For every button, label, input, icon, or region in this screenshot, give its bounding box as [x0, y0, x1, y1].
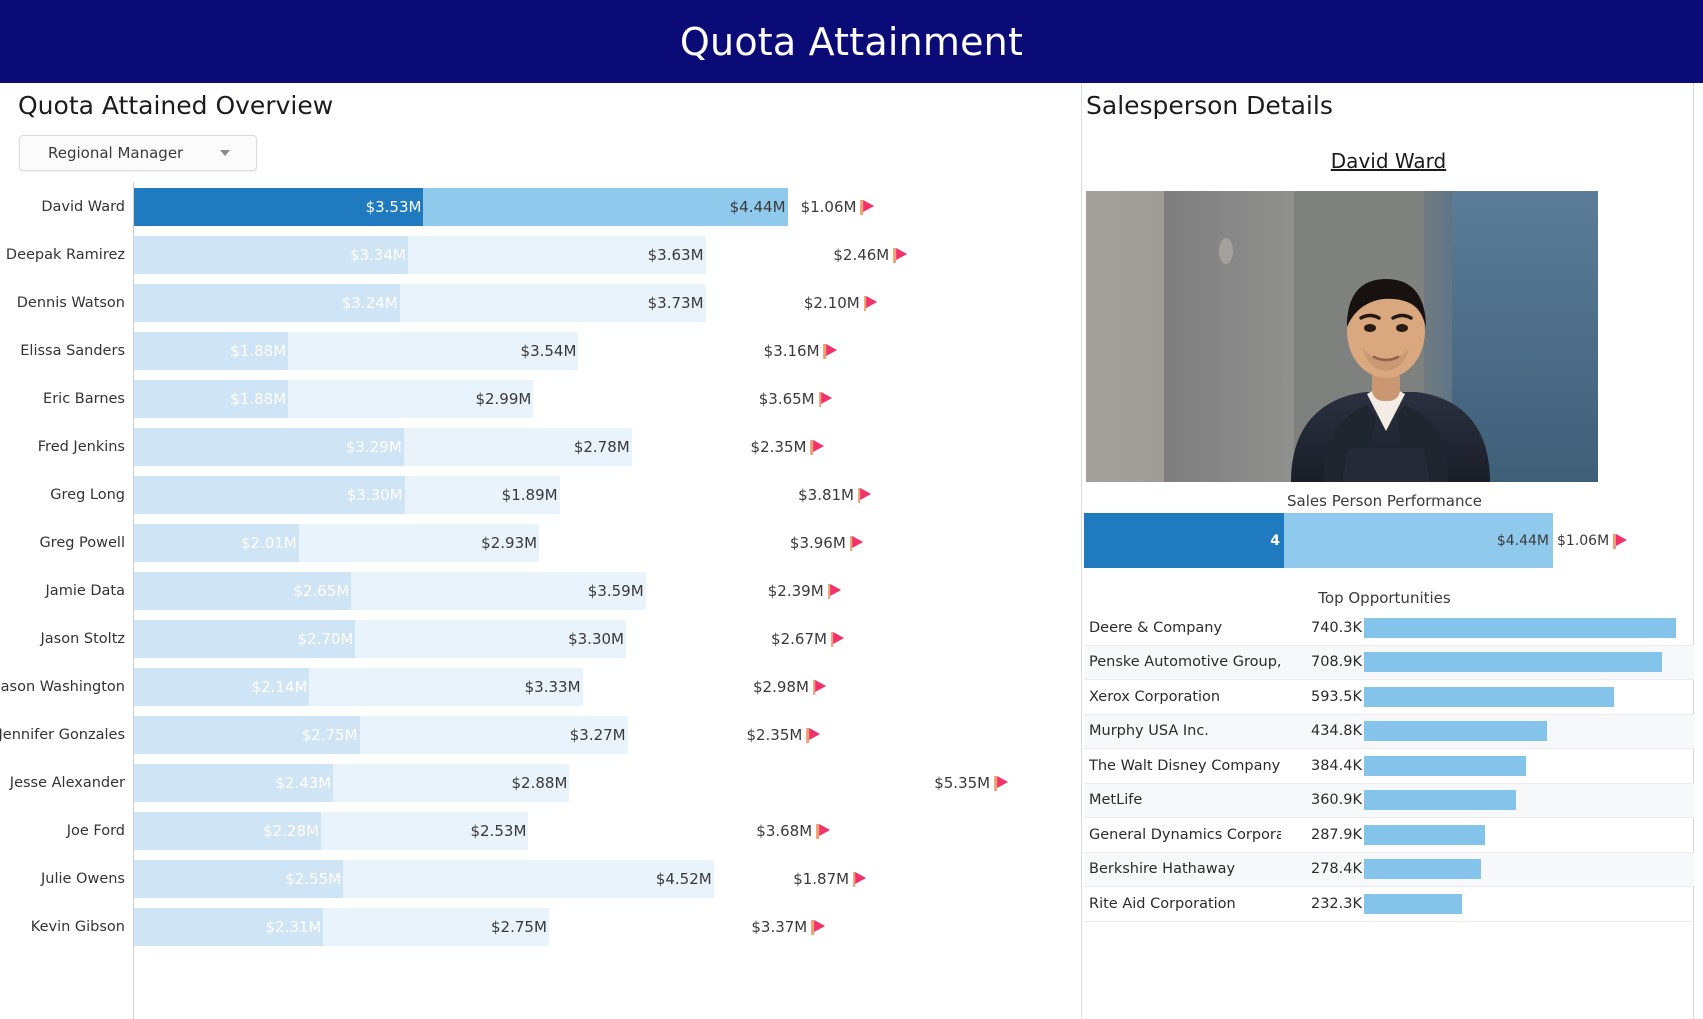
flag-icon	[816, 823, 830, 839]
bar-row[interactable]: Joe Ford$2.28M$2.53M$3.68M	[0, 807, 1080, 855]
bar-segment-attained: $2.65M	[134, 572, 351, 610]
bar-segment-pipeline-label: $3.54M	[521, 342, 579, 360]
bar-segment-attained: $3.30M	[134, 476, 405, 514]
bar-gap-marker: $2.67M	[771, 620, 845, 658]
bar-gap-marker: $2.39M	[768, 572, 842, 610]
bar-row-name: Greg Long	[0, 471, 125, 519]
bar-row-name: Greg Powell	[0, 519, 125, 567]
bar-segment-attained: $3.24M	[134, 284, 400, 322]
opportunity-name: The Walt Disney Company	[1084, 758, 1281, 774]
opportunity-bar-wrap	[1364, 887, 1694, 922]
bar-gap-marker: $1.06M	[801, 188, 875, 226]
opportunity-bar	[1364, 859, 1481, 879]
bar-segment-pipeline-label: $3.59M	[588, 582, 646, 600]
bar-gap-label: $2.39M	[768, 582, 824, 600]
flag-icon	[824, 343, 838, 359]
flag-icon	[994, 775, 1008, 791]
opportunity-value: 384.4K	[1281, 758, 1364, 774]
salesperson-photo	[1086, 191, 1598, 482]
opportunity-bar	[1364, 721, 1547, 741]
flag-icon	[1613, 533, 1627, 549]
opportunity-bar	[1364, 687, 1614, 707]
bar-segment-pipeline-label: $4.44M	[730, 198, 788, 216]
bar-segment-attained: $1.88M	[134, 332, 288, 370]
bar-gap-marker: $2.10M	[804, 284, 878, 322]
bar-row[interactable]: Greg Long$3.30M$1.89M$3.81M	[0, 471, 1080, 519]
bar-segment-attained-label: $2.31M	[266, 918, 324, 936]
opportunity-name: Murphy USA Inc.	[1084, 723, 1281, 739]
flag-icon	[831, 631, 845, 647]
bar-segment-attained: $1.88M	[134, 380, 288, 418]
bar-gap-marker: $2.35M	[751, 428, 825, 466]
opportunity-value: 434.8K	[1281, 723, 1364, 739]
bar-segment-pipeline-label: $3.33M	[525, 678, 583, 696]
bar-gap-marker: $3.81M	[798, 476, 872, 514]
bar-segment-attained-label: $3.29M	[346, 438, 404, 456]
top-opportunities-label: Top Opportunities	[1082, 589, 1687, 607]
opportunity-bar	[1364, 756, 1526, 776]
flag-icon	[828, 583, 842, 599]
flag-icon	[819, 391, 833, 407]
salesperson-details-panel: Salesperson Details David Ward	[1081, 83, 1694, 1019]
bar-segment-pipeline: $2.93M	[299, 524, 539, 562]
bar-row[interactable]: Jesse Alexander$2.43M$2.88M$5.35M	[0, 759, 1080, 807]
performance-chart-label: Sales Person Performance	[1082, 492, 1687, 510]
bar-segment-pipeline: $3.30M	[355, 620, 626, 658]
dashboard-root: Quota Attainment Quota Attained Overview…	[0, 0, 1703, 1019]
bar-row-name: Deepak Ramirez	[0, 231, 125, 279]
bar-gap-label: $3.37M	[751, 918, 807, 936]
performance-total-label: $4.44M	[1497, 533, 1553, 549]
opportunity-row[interactable]: Rite Aid Corporation232.3K	[1084, 887, 1694, 922]
bar-segment-attained-label: $2.14M	[252, 678, 310, 696]
app-title-bar: Quota Attainment	[0, 0, 1703, 83]
bar-gap-label: $1.87M	[793, 870, 849, 888]
bar-segment-pipeline-label: $1.89M	[502, 486, 560, 504]
opportunity-bar	[1364, 825, 1485, 845]
opportunity-name: General Dynamics Corporation	[1084, 827, 1281, 843]
performance-attained-segment: 4	[1084, 513, 1284, 568]
salesperson-details-heading: Salesperson Details	[1086, 91, 1333, 120]
bar-segment-attained-label: $2.70M	[298, 630, 356, 648]
quota-overview-heading: Quota Attained Overview	[18, 91, 333, 120]
bar-segment-pipeline-label: $3.27M	[570, 726, 628, 744]
bar-row-name: Jennifer Gonzales	[0, 711, 125, 759]
bar-segment-attained: $2.70M	[134, 620, 355, 658]
opportunity-bar-wrap	[1364, 818, 1694, 853]
bar-row[interactable]: David Ward$3.53M$4.44M$1.06M	[0, 183, 1080, 231]
bar-segment-attained: $2.01M	[134, 524, 299, 562]
opportunity-name: Deere & Company	[1084, 620, 1281, 636]
bar-segment-pipeline: $3.33M	[309, 668, 582, 706]
bar-row[interactable]: Dennis Watson$3.24M$3.73M$2.10M	[0, 279, 1080, 327]
bar-segment-attained: $2.28M	[134, 812, 321, 850]
performance-gap-label: $1.06M	[1557, 533, 1609, 549]
bar-row[interactable]: Jason Washington$2.14M$3.33M$2.98M	[0, 663, 1080, 711]
performance-bar[interactable]: 4 $4.44M $1.06M	[1084, 513, 1694, 568]
opportunity-value: 708.9K	[1281, 654, 1364, 670]
bar-gap-marker: $3.16M	[764, 332, 838, 370]
bar-segment-attained-label: $3.34M	[350, 246, 408, 264]
flag-icon	[860, 199, 874, 215]
page-title: Quota Attainment	[680, 20, 1023, 64]
opportunity-bar	[1364, 894, 1462, 914]
bar-gap-label: $3.16M	[764, 342, 820, 360]
bar-segment-attained-label: $2.43M	[275, 774, 333, 792]
bar-row[interactable]: Jamie Data$2.65M$3.59M$2.39M	[0, 567, 1080, 615]
opportunity-bar-wrap	[1364, 783, 1694, 818]
bar-row-name: David Ward	[0, 183, 125, 231]
bar-row[interactable]: Eric Barnes$1.88M$2.99M$3.65M	[0, 375, 1080, 423]
bar-row[interactable]: Jason Stoltz$2.70M$3.30M$2.67M	[0, 615, 1080, 663]
bar-segment-pipeline: $2.78M	[404, 428, 632, 466]
bar-row-name: Joe Ford	[0, 807, 125, 855]
bar-segment-pipeline: $1.89M	[405, 476, 560, 514]
opportunity-value: 740.3K	[1281, 620, 1364, 636]
flag-icon	[850, 535, 864, 551]
opportunity-row[interactable]: Deere & Company740.3K	[1084, 611, 1694, 646]
bar-gap-label: $3.96M	[790, 534, 846, 552]
bar-gap-marker: $3.65M	[759, 380, 833, 418]
bar-segment-attained-label: $3.53M	[366, 198, 424, 216]
bar-row-name: Fred Jenkins	[0, 423, 125, 471]
opportunity-bar	[1364, 790, 1516, 810]
bar-segment-attained: $2.14M	[134, 668, 309, 706]
bar-row-name: Eric Barnes	[0, 375, 125, 423]
bar-gap-marker: $3.68M	[756, 812, 830, 850]
opportunity-bar-wrap	[1364, 645, 1694, 680]
bar-gap-marker: $5.35M	[934, 764, 1008, 802]
bar-segment-attained-label: $1.88M	[230, 342, 288, 360]
bar-row-name: Julie Owens	[0, 855, 125, 903]
bar-segment-pipeline: $3.73M	[400, 284, 706, 322]
regional-manager-dropdown-label: Regional Manager	[48, 144, 183, 162]
performance-gap-marker: $1.06M	[1557, 513, 1627, 568]
bar-gap-label: $2.35M	[746, 726, 802, 744]
bar-gap-label: $3.65M	[759, 390, 815, 408]
bar-row[interactable]: Greg Powell$2.01M$2.93M$3.96M	[0, 519, 1080, 567]
opportunity-row[interactable]: Penske Automotive Group, Inc.708.9K	[1084, 646, 1694, 681]
bar-segment-pipeline: $2.99M	[288, 380, 533, 418]
bar-segment-attained-label: $3.24M	[342, 294, 400, 312]
bar-segment-pipeline: $3.59M	[351, 572, 645, 610]
opportunity-bar	[1364, 652, 1662, 672]
quota-overview-panel: Quota Attained Overview Regional Manager…	[0, 83, 1080, 1019]
opportunity-value: 232.3K	[1281, 896, 1364, 912]
opportunity-row[interactable]: General Dynamics Corporation287.9K	[1084, 818, 1694, 853]
bar-gap-label: $2.46M	[833, 246, 889, 264]
bar-segment-attained: $2.43M	[134, 764, 333, 802]
opportunity-row[interactable]: The Walt Disney Company384.4K	[1084, 749, 1694, 784]
bar-gap-marker: $2.35M	[746, 716, 820, 754]
bar-gap-label: $2.98M	[753, 678, 809, 696]
bar-segment-pipeline-label: $2.78M	[574, 438, 632, 456]
bar-row[interactable]: Fred Jenkins$3.29M$2.78M$2.35M	[0, 423, 1080, 471]
bar-segment-pipeline-label: $2.75M	[491, 918, 549, 936]
bar-segment-pipeline-label: $3.73M	[648, 294, 706, 312]
bar-row-name: Jesse Alexander	[0, 759, 125, 807]
opportunity-bar-wrap	[1364, 611, 1694, 646]
bar-row[interactable]: Deepak Ramirez$3.34M$3.63M$2.46M	[0, 231, 1080, 279]
bar-row[interactable]: Jennifer Gonzales$2.75M$3.27M$2.35M	[0, 711, 1080, 759]
bar-row[interactable]: Kevin Gibson$2.31M$2.75M$3.37M	[0, 903, 1080, 951]
bar-gap-label: $1.06M	[801, 198, 857, 216]
bar-segment-attained-label: $3.30M	[347, 486, 405, 504]
opportunity-name: Berkshire Hathaway	[1084, 861, 1281, 877]
flag-icon	[864, 295, 878, 311]
bar-segment-pipeline: $2.53M	[321, 812, 528, 850]
opportunity-value: 278.4K	[1281, 861, 1364, 877]
bar-segment-attained: $3.53M	[134, 188, 423, 226]
bar-segment-pipeline-label: $2.53M	[471, 822, 529, 840]
opportunity-value: 593.5K	[1281, 689, 1364, 705]
bar-segment-attained: $3.29M	[134, 428, 404, 466]
bar-gap-marker: $3.96M	[790, 524, 864, 562]
bar-segment-pipeline: $3.54M	[288, 332, 578, 370]
bar-row-name: Dennis Watson	[0, 279, 125, 327]
bar-segment-pipeline: $4.44M	[423, 188, 787, 226]
chevron-down-icon	[220, 150, 230, 156]
bar-segment-pipeline-label: $3.30M	[568, 630, 626, 648]
bar-segment-pipeline: $3.27M	[360, 716, 628, 754]
bar-gap-label: $2.35M	[751, 438, 807, 456]
bar-segment-attained-label: $2.28M	[263, 822, 321, 840]
bar-gap-marker: $2.46M	[833, 236, 907, 274]
opportunity-name: Rite Aid Corporation	[1084, 896, 1281, 912]
opportunity-name: Penske Automotive Group, Inc.	[1084, 654, 1281, 670]
bar-row-name: Jason Stoltz	[0, 615, 125, 663]
opportunity-row[interactable]: Murphy USA Inc.434.8K	[1084, 715, 1694, 750]
bar-segment-attained-label: $1.88M	[230, 390, 288, 408]
bar-row-name: Elissa Sanders	[0, 327, 125, 375]
bar-segment-pipeline-label: $4.52M	[656, 870, 714, 888]
bar-segment-attained-label: $2.01M	[241, 534, 299, 552]
top-opportunities-table: Deere & Company740.3KPenske Automotive G…	[1084, 611, 1694, 922]
bar-segment-attained: $2.75M	[134, 716, 360, 754]
salesperson-name-link[interactable]: David Ward	[1082, 149, 1694, 173]
bar-gap-marker: $1.87M	[793, 860, 867, 898]
bar-gap-label: $5.35M	[934, 774, 990, 792]
bar-segment-attained-label: $2.65M	[293, 582, 351, 600]
flag-icon	[853, 871, 867, 887]
dashboard-body: Quota Attained Overview Regional Manager…	[0, 83, 1694, 1019]
opportunity-row[interactable]: MetLife360.9K	[1084, 784, 1694, 819]
bar-segment-pipeline: $3.63M	[408, 236, 706, 274]
bar-segment-attained-label: $2.75M	[302, 726, 360, 744]
bar-gap-label: $2.10M	[804, 294, 860, 312]
performance-attained-label: 4	[1270, 533, 1284, 549]
flag-icon	[810, 439, 824, 455]
bar-gap-marker: $3.37M	[751, 908, 825, 946]
opportunity-bar	[1364, 618, 1676, 638]
flag-icon	[893, 247, 907, 263]
opportunity-name: Xerox Corporation	[1084, 689, 1281, 705]
bar-row-name: Jamie Data	[0, 567, 125, 615]
bar-segment-pipeline: $2.88M	[333, 764, 569, 802]
bar-segment-pipeline: $2.75M	[323, 908, 549, 946]
bar-row-name: Jason Washington	[0, 663, 125, 711]
quota-bar-chart: David Ward$3.53M$4.44M$1.06MDeepak Ramir…	[0, 183, 1080, 1019]
flag-icon	[858, 487, 872, 503]
bar-row-name: Kevin Gibson	[0, 903, 125, 951]
opportunity-bar-wrap	[1364, 749, 1694, 784]
bar-gap-label: $3.68M	[756, 822, 812, 840]
opportunity-bar-wrap	[1364, 680, 1694, 715]
flag-icon	[813, 679, 827, 695]
bar-segment-pipeline-label: $2.88M	[512, 774, 570, 792]
opportunity-bar-wrap	[1364, 714, 1694, 749]
bar-row[interactable]: Julie Owens$2.55M$4.52M$1.87M	[0, 855, 1080, 903]
bar-segment-pipeline-label: $2.93M	[481, 534, 539, 552]
regional-manager-dropdown[interactable]: Regional Manager	[19, 135, 257, 171]
opportunity-row[interactable]: Xerox Corporation593.5K	[1084, 680, 1694, 715]
bar-segment-attained: $2.31M	[134, 908, 323, 946]
bar-segment-pipeline-label: $2.99M	[475, 390, 533, 408]
opportunity-name: MetLife	[1084, 792, 1281, 808]
opportunity-value: 287.9K	[1281, 827, 1364, 843]
bar-segment-pipeline: $4.52M	[343, 860, 714, 898]
bar-gap-marker: $2.98M	[753, 668, 827, 706]
opportunity-value: 360.9K	[1281, 792, 1364, 808]
bar-gap-label: $3.81M	[798, 486, 854, 504]
performance-pipeline-segment: $4.44M	[1284, 513, 1553, 568]
bar-segment-attained: $2.55M	[134, 860, 343, 898]
bar-row[interactable]: Elissa Sanders$1.88M$3.54M$3.16M	[0, 327, 1080, 375]
bar-segment-pipeline-label: $3.63M	[648, 246, 706, 264]
flag-icon	[806, 727, 820, 743]
bar-segment-attained-label: $2.55M	[285, 870, 343, 888]
opportunity-bar-wrap	[1364, 852, 1694, 887]
opportunity-row[interactable]: Berkshire Hathaway278.4K	[1084, 853, 1694, 888]
flag-icon	[811, 919, 825, 935]
bar-segment-attained: $3.34M	[134, 236, 408, 274]
bar-gap-label: $2.67M	[771, 630, 827, 648]
